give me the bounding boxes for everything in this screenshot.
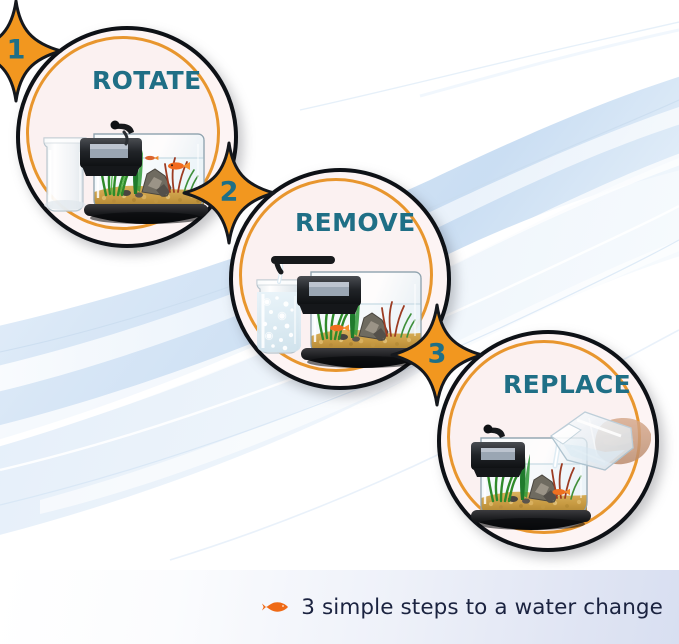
infographic-stage: 1 ROTATE (0, 0, 679, 644)
step-label-remove: REMOVE (295, 208, 416, 237)
step-star-badge-2: 2 (181, 141, 277, 245)
step-star-badge-3: 3 (389, 303, 485, 407)
caption-inner: 3 simple steps to a water change (262, 595, 663, 620)
step-label-rotate: ROTATE (92, 66, 202, 95)
step-card-3: 3 REPLACE (437, 330, 665, 558)
step-3-illustration (455, 400, 651, 536)
fish-icon (262, 600, 290, 614)
caption-text: 3 simple steps to a water change (301, 595, 663, 620)
step-star-badge-1: 1 (0, 0, 64, 103)
step-label-replace: REPLACE (503, 370, 631, 399)
caption-bar: 3 simple steps to a water change (0, 570, 679, 644)
